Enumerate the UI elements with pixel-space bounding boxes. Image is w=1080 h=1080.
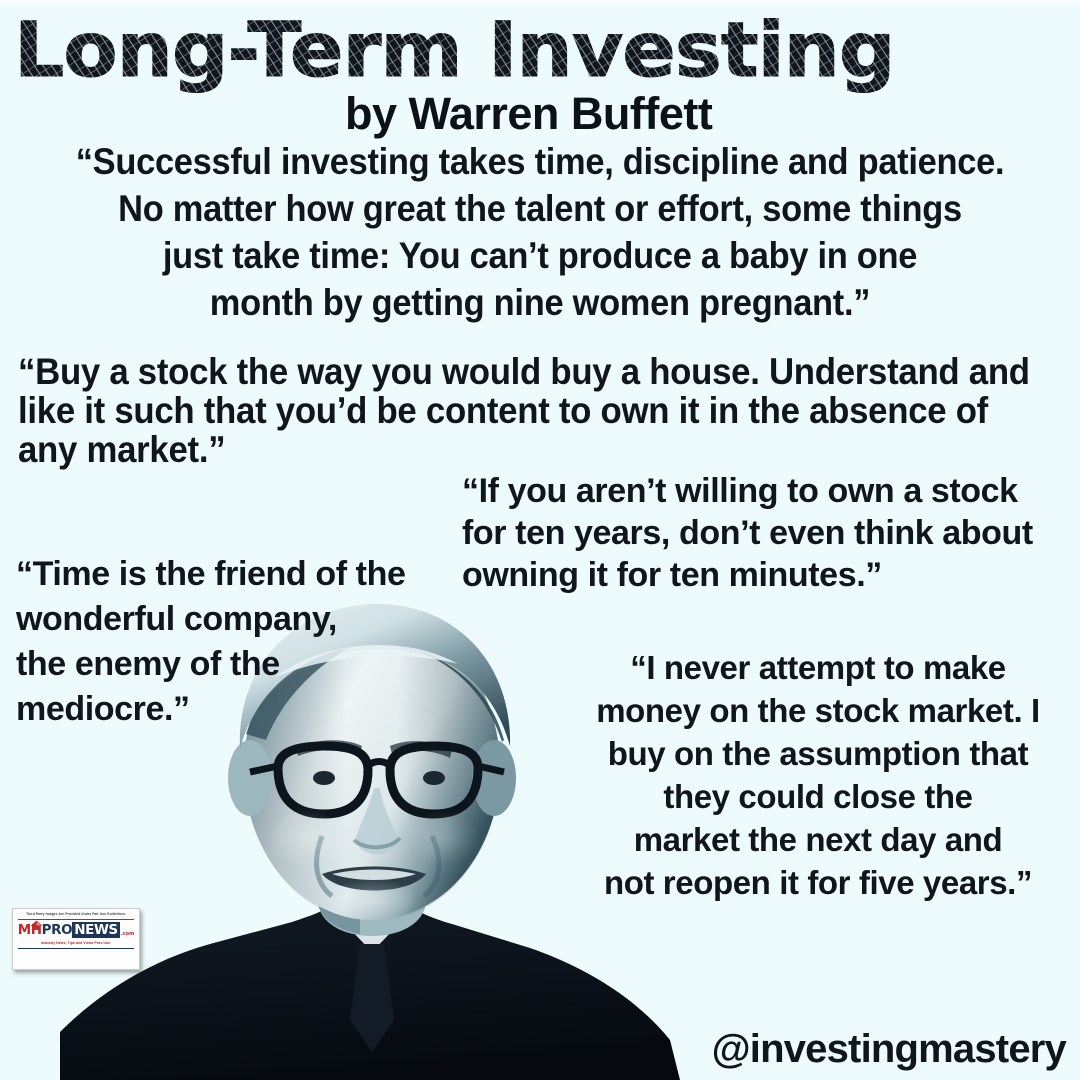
necktie	[350, 944, 394, 1052]
poster-title-block: Long-Term Investing by Warren Buffett	[0, 8, 1080, 140]
quote-line: month by getting nine women pregnant.”	[38, 279, 1042, 326]
eyeglasses	[250, 746, 504, 814]
quote-i-never-attempt: “I never attempt to make money on the st…	[556, 646, 1080, 904]
shirt-collar	[328, 900, 416, 952]
quote-line: any market.”	[18, 430, 1014, 469]
quote-line: for ten years, don’t even think about	[462, 512, 1080, 554]
quote-poster: Long-Term Investing by Warren Buffett	[0, 0, 1080, 1080]
logo-wordmark: MHPRONEWS.com	[17, 922, 135, 939]
right-ear	[472, 740, 516, 816]
quote-time-is-the-friend: “Time is the friend of the wonderful com…	[16, 552, 486, 732]
quote-line: money on the stock market. I	[556, 689, 1080, 732]
quote-line: market the next day and	[556, 818, 1080, 861]
page-title: Long-Term Investing	[14, 8, 1080, 92]
mouth	[322, 867, 426, 891]
teeth	[332, 870, 416, 881]
left-eye	[313, 771, 335, 785]
quote-line: “If you aren’t willing to own a stock	[462, 470, 1080, 512]
quote-line: the enemy of the	[16, 642, 486, 687]
quote-line: No matter how great the talent or effort…	[38, 185, 1042, 232]
logo-tagline: Industry News, Tips and Views Pros Use.	[17, 940, 135, 946]
logo-com: .com	[121, 931, 135, 939]
quote-line: “Successful investing takes time, discip…	[38, 138, 1042, 185]
page-title-text: Long-Term Investing	[14, 5, 894, 94]
quote-line: like it such that you’d be content to ow…	[18, 391, 1014, 430]
quote-line: mediocre.”	[16, 687, 486, 732]
quote-line: owning it for ten minutes.”	[462, 554, 1080, 596]
quote-successful-investing: “Successful investing takes time, discip…	[38, 138, 1042, 326]
page-subtitle: by Warren Buffett	[0, 88, 1080, 140]
quote-if-you-arent-willing: “If you aren’t willing to own a stock fo…	[462, 470, 1080, 596]
nose	[356, 788, 397, 854]
quote-buy-a-stock: “Buy a stock the way you would buy a hou…	[18, 352, 1014, 469]
neck	[318, 836, 426, 936]
left-eyebrow	[296, 740, 362, 756]
quote-line: buy on the assumption that	[556, 732, 1080, 775]
social-handle[interactable]: @investingmastery	[712, 1026, 1066, 1072]
quote-line: “Time is the friend of the	[16, 552, 486, 597]
logo-rule-navy-bottom	[18, 948, 134, 950]
left-ear	[228, 740, 272, 816]
suit	[60, 905, 680, 1080]
quote-line: not reopen it for five years.”	[556, 861, 1080, 904]
house-icon	[30, 920, 43, 929]
quote-line: they could close the	[556, 775, 1080, 818]
mhpronews-logo-badge[interactable]: Third Party Images Are Provided Under Fa…	[12, 908, 140, 970]
right-eyebrow	[390, 741, 452, 758]
quote-line: “Buy a stock the way you would buy a hou…	[18, 352, 1014, 391]
quote-line: wonderful company,	[16, 597, 486, 642]
logo-pro: PRO	[42, 922, 73, 938]
right-eye	[423, 771, 445, 785]
fair-use-notice: Third Party Images Are Provided Under Fa…	[17, 912, 135, 917]
quote-line: just take time: You can’t produce a baby…	[38, 232, 1042, 279]
quote-line: “I never attempt to make	[556, 646, 1080, 689]
logo-news: NEWS	[72, 922, 120, 938]
